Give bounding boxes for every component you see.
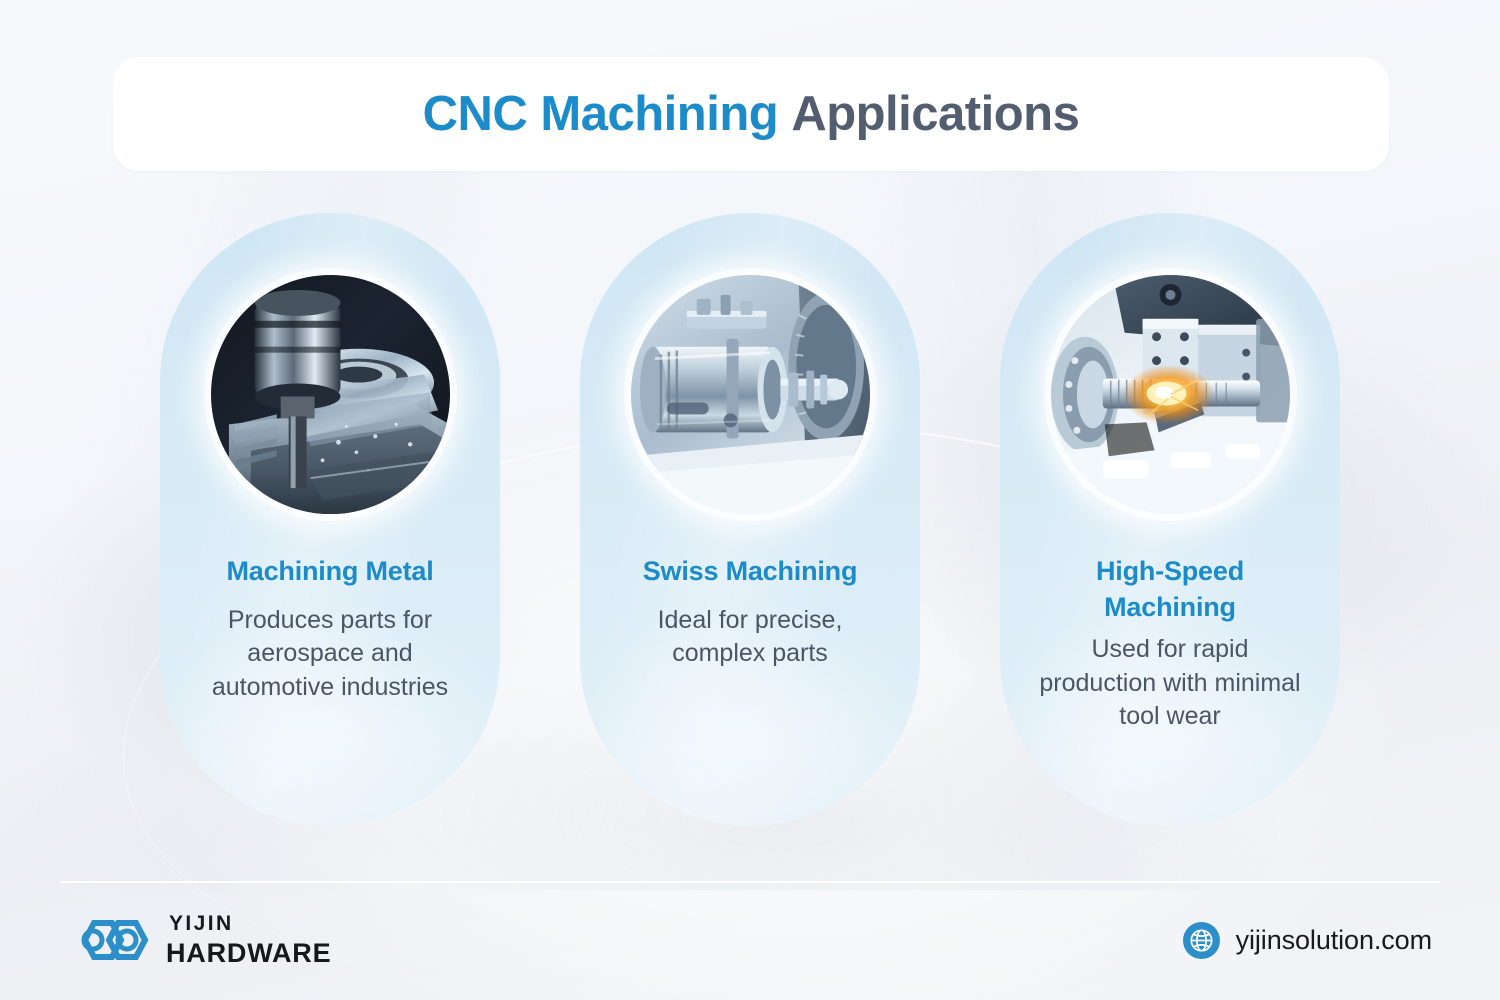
brand-name-bottom: HARDWARE [166, 940, 331, 967]
cards-row: Machining Metal Produces parts for aeros… [0, 213, 1500, 828]
card-image-glow [211, 275, 450, 514]
card-swiss-machining[interactable]: Swiss Machining Ideal for precise, compl… [580, 213, 920, 826]
swiss-lathe-spindle-photo [631, 275, 870, 514]
high-speed-turning-sparks-photo [1051, 275, 1290, 514]
card-high-speed-machining[interactable]: High-Speed Machining Used for rapid prod… [1000, 213, 1340, 826]
infinity-rings-icon [68, 917, 152, 963]
card-title: Swiss Machining [643, 554, 858, 590]
card-image-glow [1051, 275, 1290, 514]
card-machining-metal[interactable]: Machining Metal Produces parts for aeros… [160, 213, 500, 826]
website-link[interactable]: yijinsolution.com [1183, 922, 1432, 959]
infographic-page: CNC Machining Applications [0, 0, 1500, 1000]
card-description: Produces parts for aerospace and automot… [199, 604, 461, 705]
card-title: High-Speed Machining [1035, 554, 1305, 625]
page-title-accent: CNC Machining [423, 87, 779, 141]
footer: YIJIN HARDWARE yijinsolution.com [0, 896, 1500, 984]
brand-logo[interactable]: YIJIN HARDWARE [68, 913, 331, 967]
cnc-milling-machine-photo [211, 275, 450, 514]
card-description: Ideal for precise, complex parts [619, 604, 881, 671]
page-title: CNC Machining Applications [423, 86, 1080, 142]
brand-name-top: YIJIN [169, 913, 331, 934]
website-url: yijinsolution.com [1236, 925, 1432, 956]
card-image-glow [631, 275, 870, 514]
card-description: Used for rapid production with minimal t… [1039, 633, 1301, 734]
globe-icon [1183, 922, 1220, 959]
footer-divider [60, 881, 1440, 883]
title-banner: CNC Machining Applications [113, 57, 1389, 171]
page-title-rest: Applications [791, 87, 1079, 141]
card-title: Machining Metal [226, 554, 433, 590]
